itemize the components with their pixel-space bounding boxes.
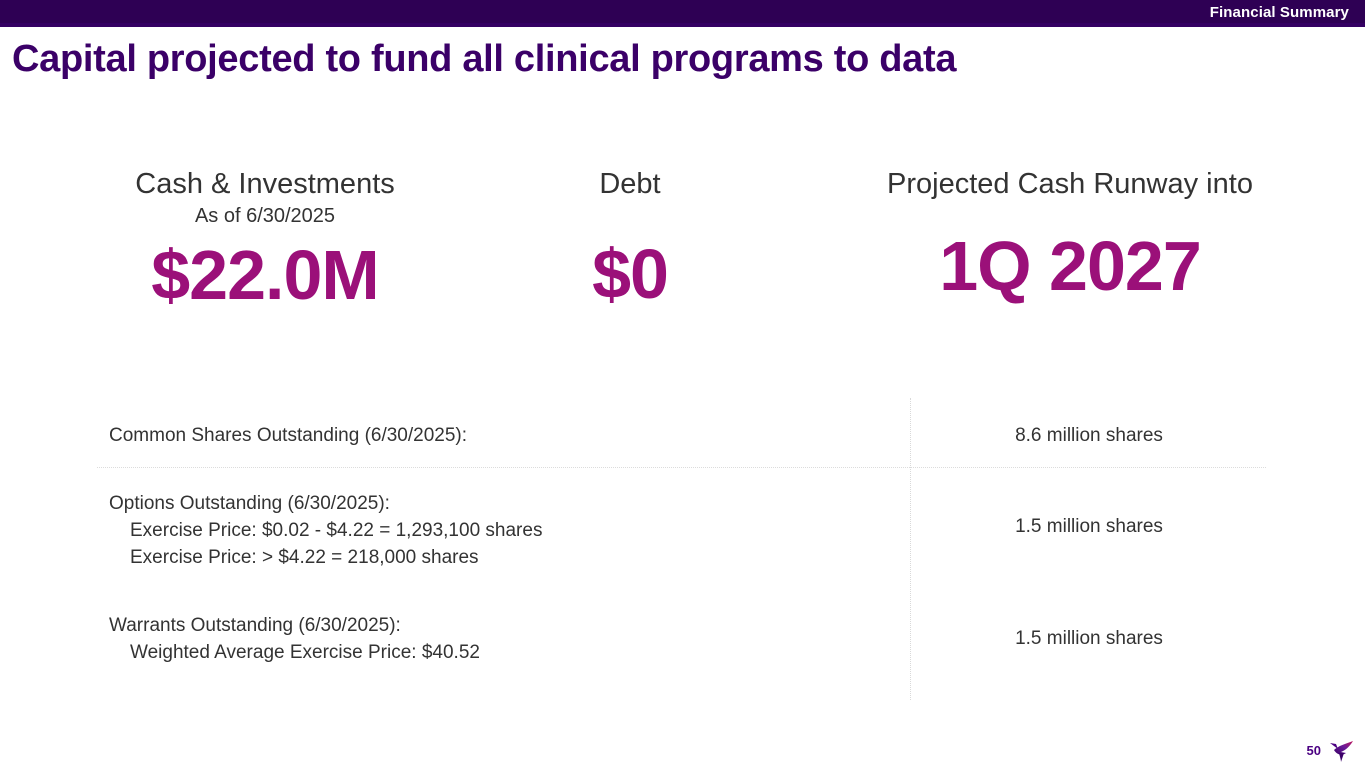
page-number: 50	[1307, 743, 1321, 759]
metric-value: $0	[470, 235, 790, 313]
metric-value: $22.0M	[60, 236, 470, 314]
row-label-group: Warrants Outstanding (6/30/2025): Weight…	[109, 612, 480, 666]
section-tag-label: Financial Summary	[1210, 3, 1349, 22]
metric-debt: Debt $0	[470, 166, 790, 313]
row-detail-line-1: Weighted Average Exercise Price: $40.52	[109, 639, 480, 666]
metric-value: 1Q 2027	[800, 227, 1340, 305]
row-value: 1.5 million shares	[911, 625, 1267, 652]
row-detail-line-1: Exercise Price: $0.02 - $4.22 = 1,293,10…	[109, 517, 542, 544]
row-label: Warrants Outstanding (6/30/2025):	[109, 612, 480, 639]
row-label: Options Outstanding (6/30/2025):	[109, 490, 542, 517]
metric-label: Projected Cash Runway into	[800, 166, 1340, 202]
top-section-band: Financial Summary	[0, 0, 1365, 27]
hummingbird-logo	[1328, 738, 1356, 764]
metric-projected-cash-runway: Projected Cash Runway into 1Q 2027	[800, 166, 1340, 305]
metrics-row: Cash & Investments As of 6/30/2025 $22.0…	[0, 166, 1365, 326]
row-label-group: Common Shares Outstanding (6/30/2025):	[109, 422, 467, 449]
metric-label: Cash & Investments	[60, 166, 470, 202]
row-label: Common Shares Outstanding (6/30/2025):	[109, 422, 467, 449]
metric-label: Debt	[470, 166, 790, 202]
row-value: 8.6 million shares	[911, 422, 1267, 449]
metric-sublabel: As of 6/30/2025	[60, 203, 470, 230]
top-section-band-inner	[0, 0, 1365, 23]
metric-cash-and-investments: Cash & Investments As of 6/30/2025 $22.0…	[60, 166, 470, 314]
row-value: 1.5 million shares	[911, 513, 1267, 540]
page-title: Capital projected to fund all clinical p…	[12, 36, 956, 82]
row-detail-line-2: Exercise Price: > $4.22 = 218,000 shares	[109, 544, 542, 571]
share-details-table: Common Shares Outstanding (6/30/2025): 8…	[0, 398, 1365, 703]
row-label-group: Options Outstanding (6/30/2025): Exercis…	[109, 490, 542, 571]
table-horizontal-divider	[97, 467, 1266, 468]
